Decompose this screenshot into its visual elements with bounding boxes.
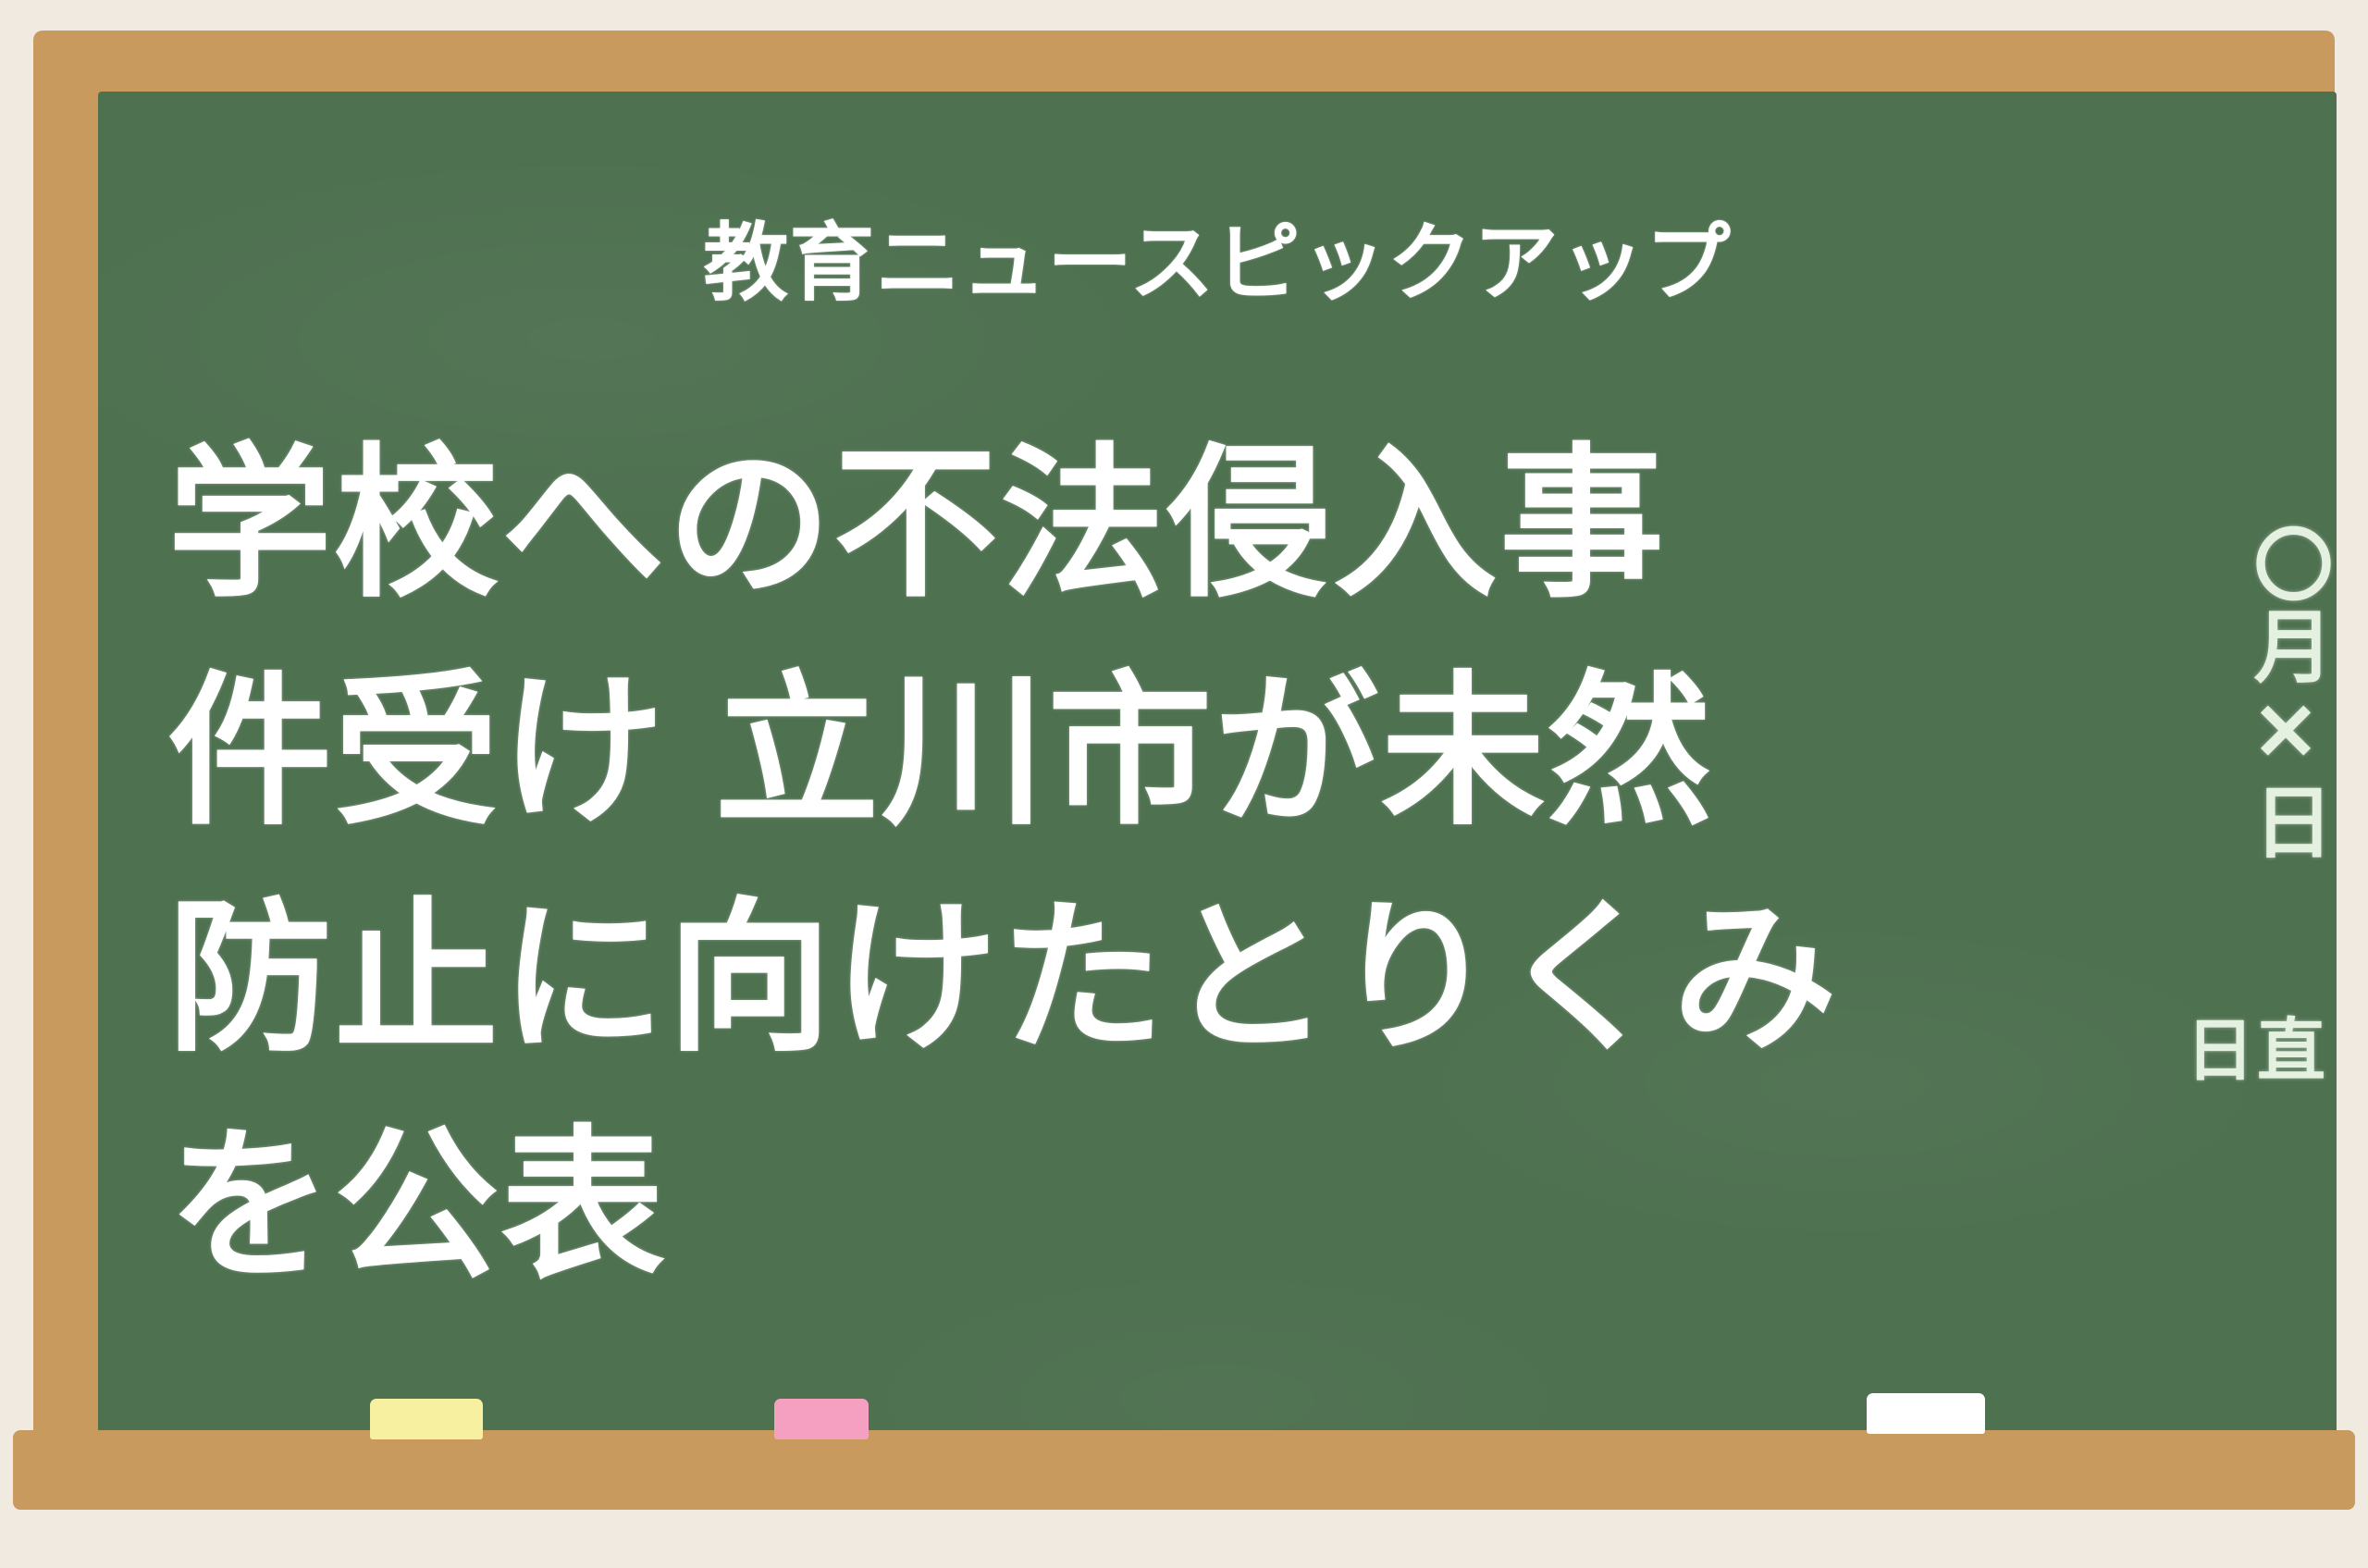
headline-line-3: 防止に向けたとりくみ [167,865,1740,1093]
date-text-vertical: 〇月✕日 [2179,475,2337,910]
headline-block: 学校への不法侵入事 件受け 立川市が未然 防止に向けたとりくみ を公表 [167,411,1740,1320]
page-header-title: 教育ニュースピックアップ [98,221,2337,306]
headline-line-4: を公表 [167,1093,1740,1320]
yellow-chalk-icon [370,1399,483,1439]
white-chalk-icon [1867,1393,1985,1434]
headline-line-2: 件受け 立川市が未然 [167,638,1740,866]
chalkboard-frame: 教育ニュースピックアップ 学校への不法侵入事 件受け 立川市が未然 防止に向けた… [33,31,2335,1469]
daily-duty-label: 日直 [2174,1017,2337,1085]
headline-line-1: 学校への不法侵入事 [167,411,1740,638]
slide-canvas: 教育ニュースピックアップ 学校への不法侵入事 件受け 立川市が未然 防止に向けた… [0,0,2368,1568]
pink-chalk-icon [774,1399,869,1439]
chalk-tray [13,1430,2355,1510]
chalkboard-surface: 教育ニュースピックアップ 学校への不法侵入事 件受け 立川市が未然 防止に向けた… [98,92,2337,1469]
